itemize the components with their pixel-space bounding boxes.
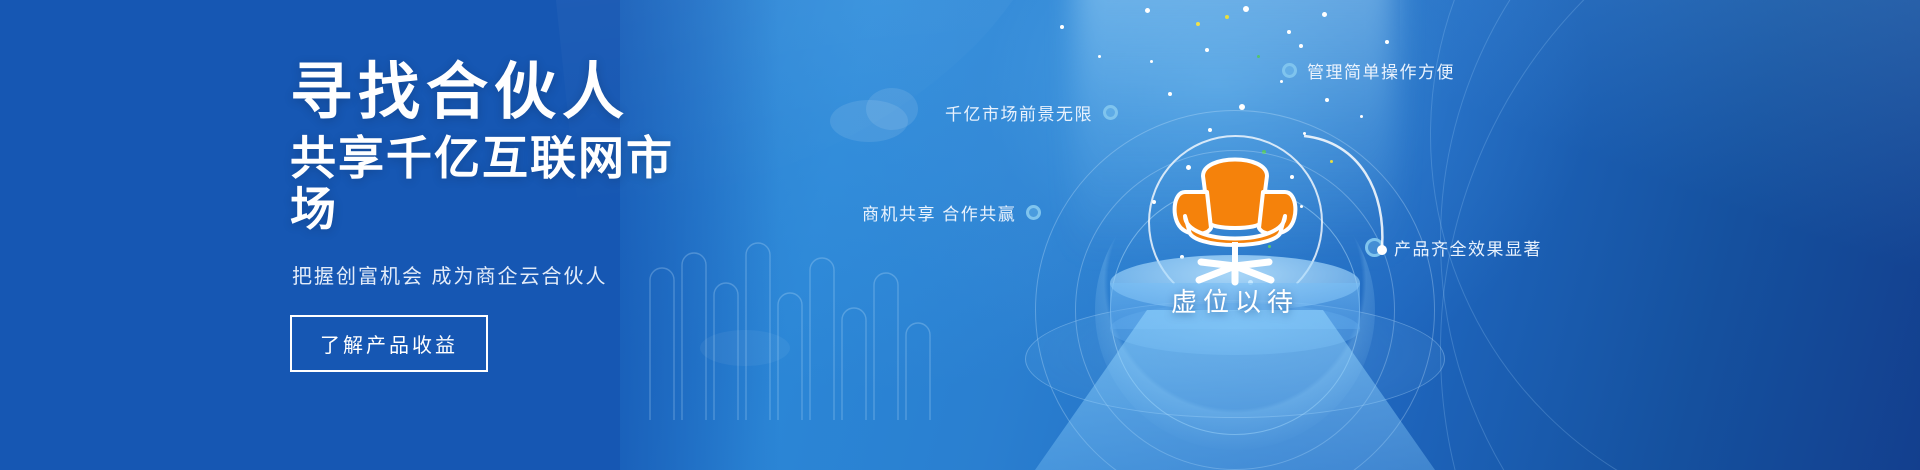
page-subtitle: 共享千亿互联网市场 — [290, 133, 710, 234]
particle — [1322, 12, 1327, 17]
learn-product-benefits-button[interactable]: 了解产品收益 — [290, 315, 488, 372]
particle — [1098, 55, 1101, 58]
cloud-decoration — [866, 88, 918, 130]
feature-label-market[interactable]: 千亿市场前景无限 — [945, 100, 1118, 125]
particle — [1225, 15, 1229, 19]
ring-dot-icon — [1103, 105, 1118, 120]
particle — [1168, 92, 1172, 96]
office-chair-icon — [1155, 130, 1315, 290]
podium-label: 虚位以待 — [1171, 282, 1299, 319]
ring-dot-icon — [1282, 63, 1297, 78]
hero-tagline: 把握创富机会 成为商企云合伙人 — [292, 260, 710, 289]
particle — [1196, 22, 1200, 26]
feature-label-management[interactable]: 管理简单操作方便 — [1282, 58, 1455, 83]
ring-dot-icon — [1026, 205, 1041, 220]
feature-label-cooperation[interactable]: 商机共享 合作共赢 — [862, 200, 1041, 225]
feature-label-products[interactable]: 产品齐全效果显著 — [1365, 235, 1542, 260]
feature-label-text: 千亿市场前景无限 — [945, 100, 1093, 125]
connector-stem-decoration — [1300, 132, 1390, 262]
particle — [1385, 40, 1389, 44]
particle — [1243, 6, 1249, 12]
particle — [1205, 48, 1209, 52]
feature-label-text: 商机共享 合作共赢 — [862, 200, 1016, 225]
page-title: 寻找合伙人 — [290, 60, 710, 127]
particle — [1257, 55, 1260, 58]
feature-label-text: 产品齐全效果显著 — [1394, 235, 1542, 260]
particle — [1145, 8, 1150, 13]
feature-label-text: 管理简单操作方便 — [1307, 58, 1455, 83]
particle — [1360, 115, 1363, 118]
promo-banner: 虚位以待 千亿市场前景无限 管理简单操作方便 商机共享 合作共赢 产品齐全效果显… — [0, 0, 1920, 470]
particle — [1325, 98, 1329, 102]
particle — [1060, 25, 1064, 29]
hero-copy: 寻找合伙人 共享千亿互联网市场 把握创富机会 成为商企云合伙人 了解产品收益 — [290, 60, 710, 372]
particle — [1287, 30, 1291, 34]
particle — [1299, 44, 1303, 48]
particle — [1150, 60, 1153, 63]
